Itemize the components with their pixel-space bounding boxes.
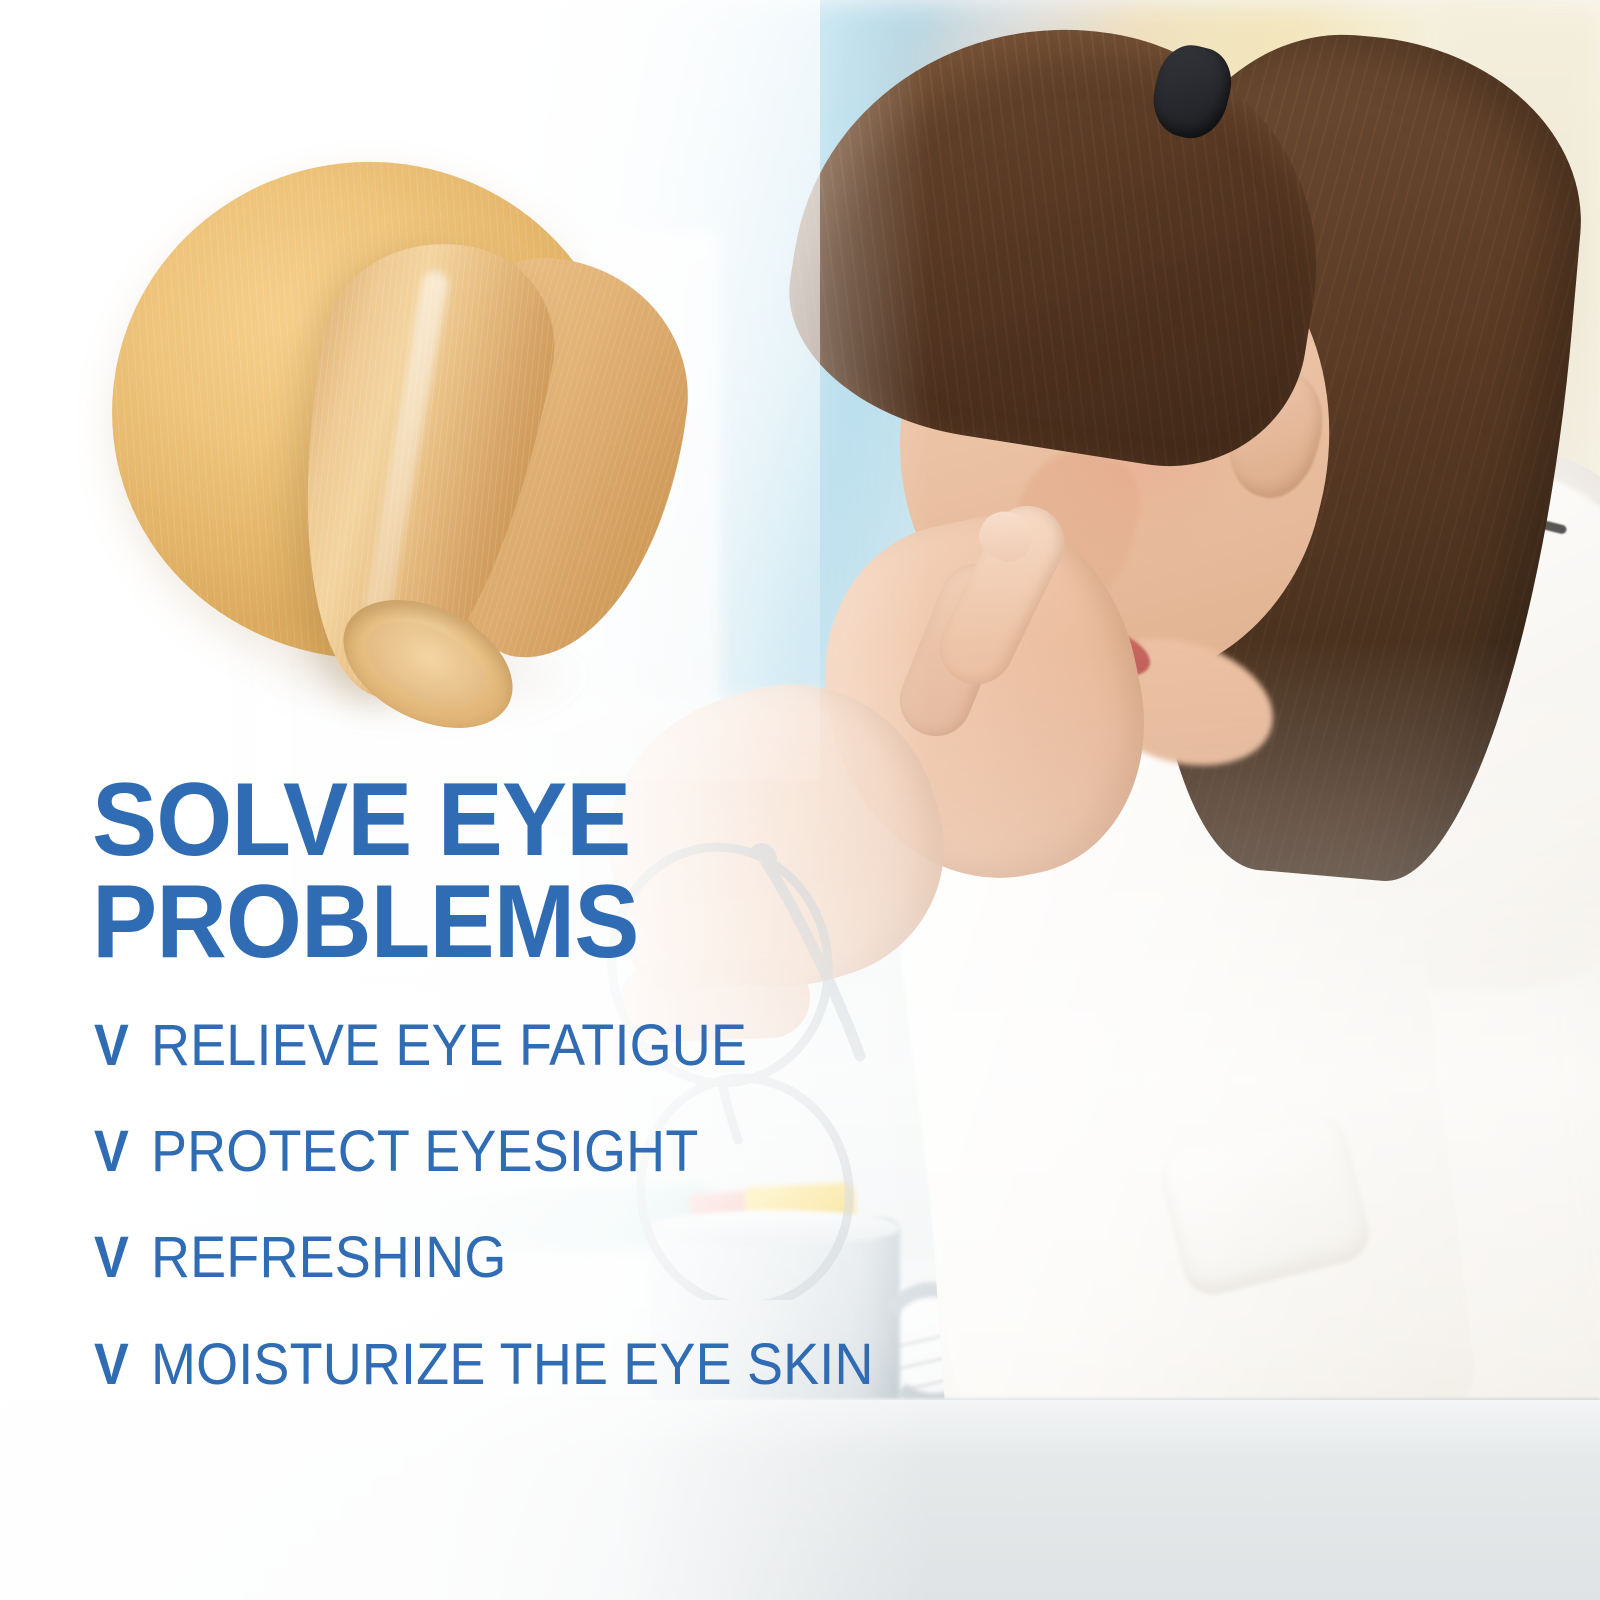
benefit-label: REFRESHING bbox=[151, 1228, 507, 1288]
list-item: v PROTECT EYESIGHT bbox=[92, 1122, 1052, 1182]
check-icon: v bbox=[94, 1335, 129, 1395]
benefit-label: PROTECT EYESIGHT bbox=[151, 1122, 698, 1182]
check-icon: v bbox=[94, 1016, 129, 1076]
product-banner: SOLVE EYE PROBLEMS v RELIEVE EYE FATIGUE… bbox=[0, 0, 1600, 1600]
check-icon: v bbox=[94, 1228, 129, 1288]
desk-surface bbox=[0, 1400, 1600, 1600]
check-icon: v bbox=[94, 1122, 129, 1182]
benefit-label: RELIEVE EYE FATIGUE bbox=[151, 1016, 747, 1076]
product-eye-pads bbox=[100, 150, 700, 710]
benefit-label: MOISTURIZE THE EYE SKIN bbox=[151, 1335, 874, 1395]
list-item: v MOISTURIZE THE EYE SKIN bbox=[92, 1335, 1052, 1395]
marketing-copy: SOLVE EYE PROBLEMS v RELIEVE EYE FATIGUE… bbox=[92, 770, 1052, 1395]
list-item: v RELIEVE EYE FATIGUE bbox=[92, 1016, 1052, 1076]
page-title: SOLVE EYE PROBLEMS bbox=[92, 770, 994, 974]
list-item: v REFRESHING bbox=[92, 1228, 1052, 1288]
benefit-list: v RELIEVE EYE FATIGUE v PROTECT EYESIGHT… bbox=[92, 1016, 1052, 1395]
